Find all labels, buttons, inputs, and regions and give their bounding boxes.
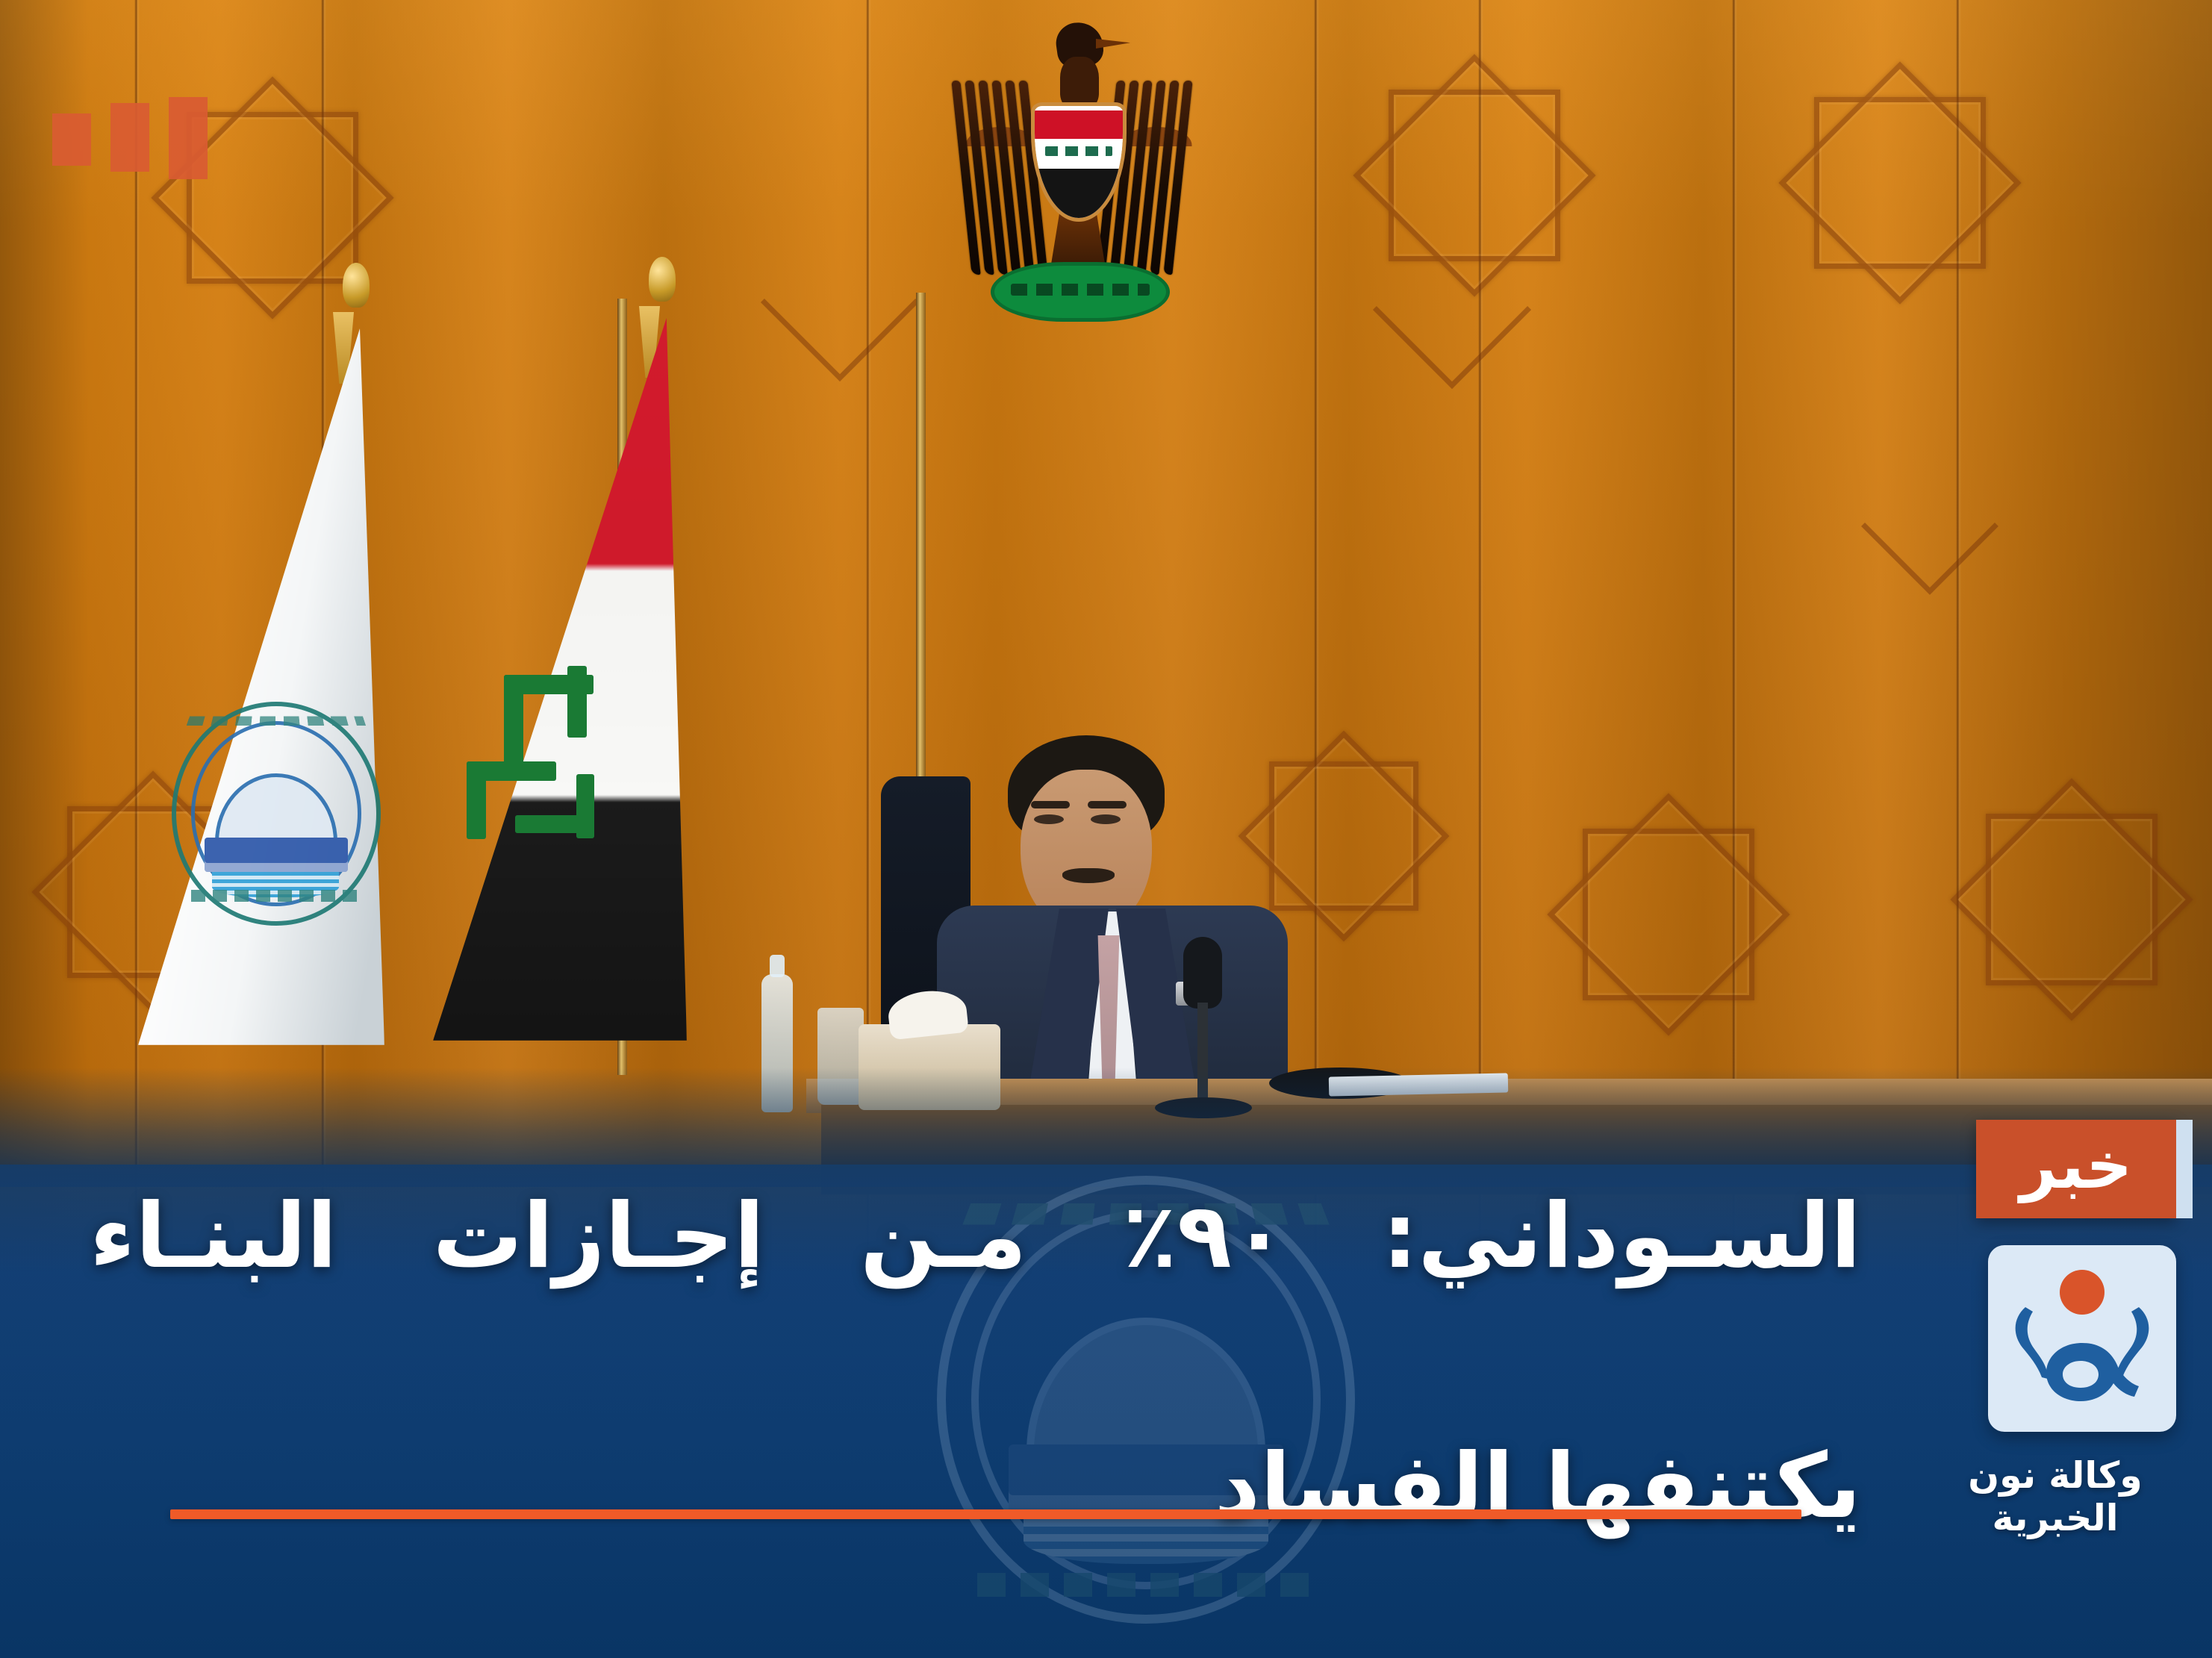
news-badge-strip [2176, 1120, 2193, 1218]
carved-star-ornament [1269, 761, 1418, 911]
news-badge-label: خبر [2020, 1134, 2133, 1204]
carved-star-ornament [1583, 829, 1754, 1000]
carved-star-ornament [187, 112, 358, 284]
news-badge: خبر [1976, 1120, 2176, 1218]
iraq-state-emblem-icon [956, 22, 1202, 343]
noon-agency-logo [1988, 1245, 2176, 1432]
carved-star-ornament [1986, 814, 2158, 985]
headline: السـوداني: ٩٠٪ مـن إجـازات البنـاء يكتنف… [90, 1174, 1861, 1551]
carved-star-ornament [1814, 97, 1986, 269]
headline-underline-rule [170, 1509, 1801, 1519]
brand-bars-icon [52, 97, 208, 179]
brand-column: خبر وكالة نون الخبرية [1930, 1120, 2176, 1539]
emblem-scroll [994, 266, 1166, 318]
carved-star-ornament [1389, 90, 1560, 261]
iraq-flag-shield-icon [1035, 106, 1123, 218]
baghdad-seal-icon [172, 702, 381, 926]
agency-name: وكالة نون الخبرية [1930, 1454, 2176, 1539]
headline-line-2: يكتنفها الفساد [90, 1424, 1861, 1551]
headline-line-1: السـوداني: ٩٠٪ مـن إجـازات البنـاء [90, 1174, 1861, 1428]
news-card: السـوداني: ٩٠٪ مـن إجـازات البنـاء يكتنف… [0, 0, 2212, 1658]
